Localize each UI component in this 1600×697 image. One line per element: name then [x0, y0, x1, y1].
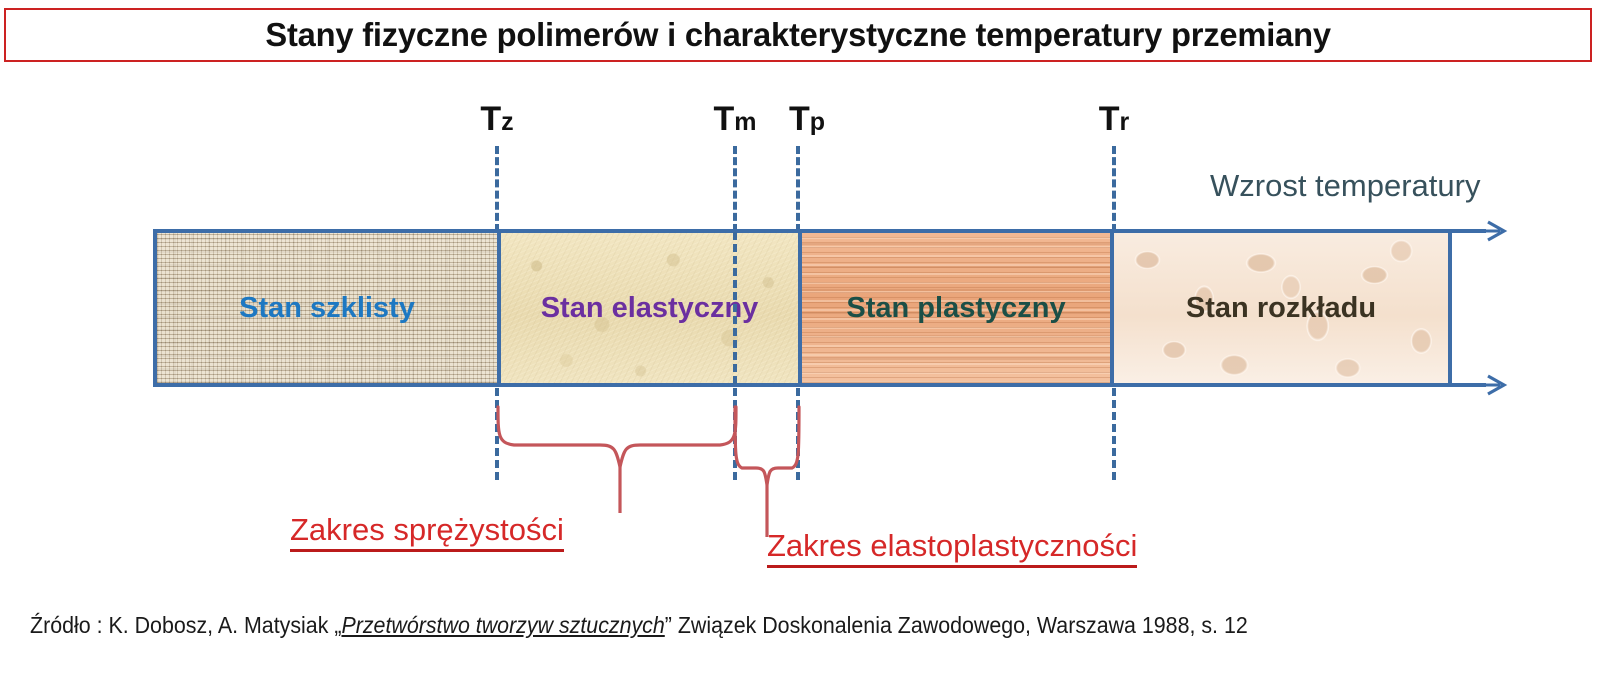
dashed-line-tp-top [796, 146, 800, 232]
source-suffix: ” Związek Doskonalenia Zawodowego, Warsz… [665, 612, 1248, 638]
temperature-label-tp-base: T [789, 100, 810, 138]
slide-canvas: Stany fizyczne polimerów i charakterysty… [0, 0, 1600, 697]
dashed-line-tm-inside-bar [733, 232, 737, 384]
dashed-line-tm-top [733, 146, 737, 232]
state-segment-elastyczny[interactable]: Stan elastyczny [497, 233, 798, 383]
temperature-label-tz-sub: z [501, 108, 514, 136]
arrow-right-icon-top [1450, 222, 1504, 240]
temperature-label-tm-sub: m [734, 108, 756, 136]
arrow-right-icon-bottom [1450, 376, 1504, 394]
temperature-arrows [1448, 212, 1598, 402]
state-label-elastyczny: Stan elastyczny [541, 292, 759, 325]
state-label-rozkladu: Stan rozkładu [1186, 292, 1376, 325]
temperature-label-tp-sub: p [810, 108, 825, 136]
axis-growth-label: Wzrost temperatury [1210, 168, 1480, 204]
temperature-label-tm: Tm [713, 100, 756, 139]
temperature-label-tm-base: T [713, 100, 734, 138]
range-label-sprezystosc: Zakres sprężystości [290, 512, 564, 552]
dashed-line-tr-top [1112, 146, 1116, 232]
temperature-label-tz-base: T [480, 100, 501, 138]
temperature-label-tp: Tp [789, 100, 825, 139]
state-segment-plastyczny[interactable]: Stan plastyczny [798, 233, 1110, 383]
temperature-label-tz: Tz [480, 100, 513, 139]
source-citation: Źródło : K. Dobosz, A. Matysiak „Przetwó… [30, 612, 1248, 639]
state-segment-rozkladu[interactable]: Stan rozkładu [1110, 233, 1448, 383]
temperature-label-tr-sub: r [1120, 108, 1130, 136]
temperature-label-tr-base: T [1099, 100, 1120, 138]
state-label-szklisty: Stan szklisty [239, 292, 415, 325]
range-label-elastoplastycznosc: Zakres elastoplastyczności [767, 528, 1137, 568]
dashed-line-tz-top [495, 146, 499, 232]
source-prefix: Źródło : K. Dobosz, A. Matysiak „ [30, 612, 341, 638]
temperature-label-tr: Tr [1099, 100, 1130, 139]
state-segment-szklisty[interactable]: Stan szklisty [157, 233, 497, 383]
title-box: Stany fizyczne polimerów i charakterysty… [4, 8, 1592, 62]
source-work-title: Przetwórstwo tworzyw sztucznych [341, 612, 664, 638]
states-bar: Stan szklisty Stan elastyczny Stan plast… [153, 229, 1452, 387]
dashed-line-tr-bottom [1112, 388, 1116, 480]
state-label-plastyczny: Stan plastyczny [846, 292, 1065, 325]
page-title: Stany fizyczne polimerów i charakterysty… [265, 16, 1330, 54]
